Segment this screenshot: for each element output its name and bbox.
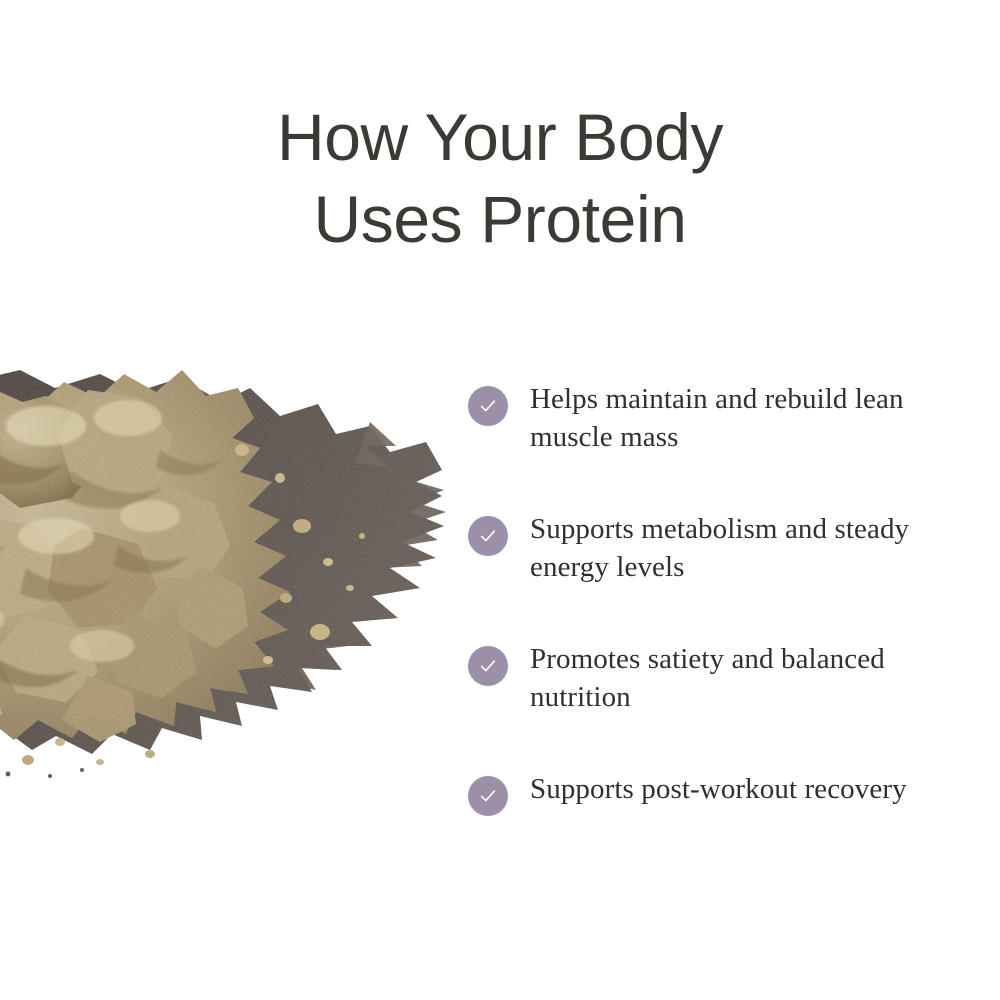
benefit-item: Promotes satiety and balanced nutrition <box>468 640 968 726</box>
benefit-item: Helps maintain and rebuild lean muscle m… <box>468 380 968 466</box>
protein-benefits-infographic: How Your Body Uses Protein <box>0 0 1000 1000</box>
benefit-item: Supports post-workout recovery <box>468 770 968 856</box>
protein-powder-illustration <box>0 330 470 850</box>
benefit-item: Supports metabolism and steady energy le… <box>468 510 968 596</box>
check-circle-icon <box>468 386 508 426</box>
benefit-text: Supports post-workout recovery <box>530 770 950 808</box>
benefits-list: Helps maintain and rebuild lean muscle m… <box>468 380 968 856</box>
check-circle-icon <box>468 646 508 686</box>
benefit-text: Helps maintain and rebuild lean muscle m… <box>530 380 950 456</box>
protein-powder-image <box>0 330 470 850</box>
page-title-line-1: How Your Body <box>0 96 1000 178</box>
benefit-text: Supports metabolism and steady energy le… <box>530 510 950 586</box>
check-circle-icon <box>468 776 508 816</box>
page-title-line-2: Uses Protein <box>0 178 1000 260</box>
benefit-text: Promotes satiety and balanced nutrition <box>530 640 950 716</box>
page-title: How Your Body Uses Protein <box>0 96 1000 260</box>
check-circle-icon <box>468 516 508 556</box>
